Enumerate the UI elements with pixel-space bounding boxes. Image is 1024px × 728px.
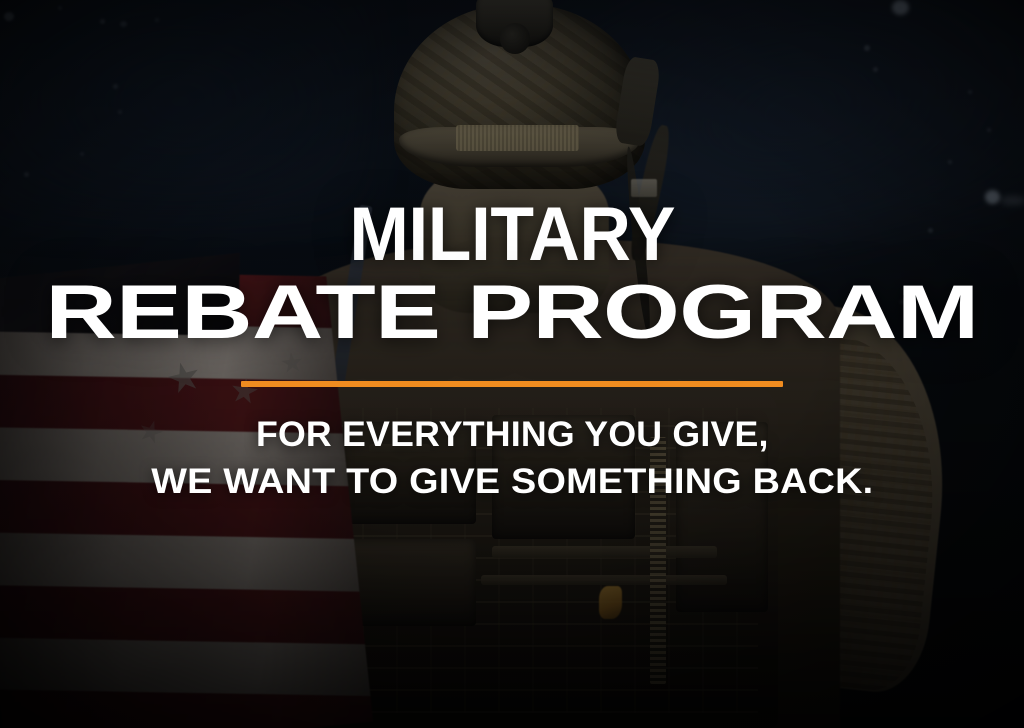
military-rebate-banner: MILITARY REBATE PROGRAM FOR EVERYTHING Y…: [0, 0, 1024, 728]
headline-line-1: MILITARY: [349, 198, 675, 272]
subtitle-line-1: FOR EVERYTHING YOU GIVE,: [171, 413, 853, 457]
subtitle-line-2: WE WANT TO GIVE SOMETHING BACK.: [151, 460, 873, 504]
orange-divider: [241, 381, 783, 387]
headline-line-2: REBATE PROGRAM: [45, 276, 978, 350]
banner-content: MILITARY REBATE PROGRAM FOR EVERYTHING Y…: [0, 0, 1024, 728]
subtitle: FOR EVERYTHING YOU GIVE, WE WANT TO GIVE…: [178, 413, 847, 504]
